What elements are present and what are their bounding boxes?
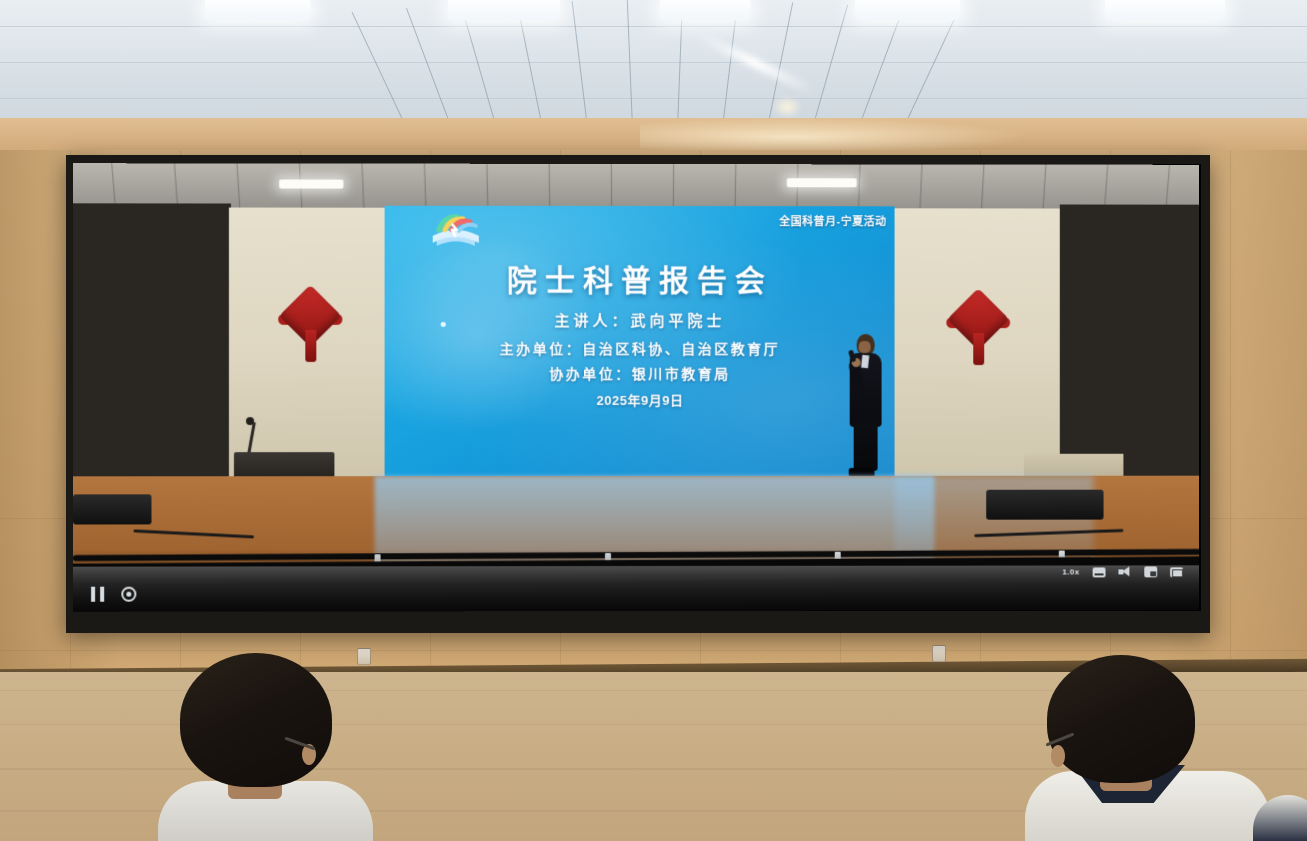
volume-icon[interactable] <box>1118 566 1131 577</box>
red-chinese-knot-left <box>282 294 338 366</box>
ceiling-cross-seam <box>0 98 1307 99</box>
replay-icon[interactable] <box>121 587 136 602</box>
presenter-on-stage <box>845 334 887 479</box>
inner-ceiling-seam <box>486 164 488 212</box>
wall-socket-right <box>932 645 946 662</box>
science-popularization-logo-icon <box>423 210 489 250</box>
audience-member-right <box>1015 656 1307 841</box>
stage-monitor-speaker-left <box>73 494 152 524</box>
stage-front-panel <box>73 565 1199 611</box>
inner-wall-dark-left <box>73 203 231 504</box>
knot-tassel <box>305 330 316 362</box>
inner-ceiling-seam <box>361 164 364 212</box>
presenter-face <box>859 341 871 353</box>
inner-ceiling-light <box>279 180 343 189</box>
wall-panel-seam-horizontal <box>0 650 1307 651</box>
video-surface[interactable]: 全国科普月-宁夏活动 院士科普报告会 主讲人：武向平院士 主办单位：自治区科协、… <box>73 163 1199 612</box>
audience-ear <box>1051 745 1065 767</box>
picture-in-picture-icon[interactable] <box>1144 566 1157 577</box>
light-reflection <box>772 96 802 118</box>
screenshot-root: 全国科普月-宁夏活动 院士科普报告会 主讲人：武向平院士 主办单位：自治区科协、… <box>0 0 1307 841</box>
slide-speaker-line: 主讲人：武向平院士 <box>385 310 895 331</box>
inner-ceiling-seam <box>549 164 551 212</box>
slide-cohost-line: 协办单位：银川市教育局 <box>385 364 895 384</box>
slide-date-line: 2025年9月9日 <box>385 390 895 409</box>
red-chinese-knot-right <box>950 297 1006 369</box>
ceiling-light-panel <box>205 0 310 20</box>
inner-ceiling-seam <box>673 164 674 212</box>
video-content: 全国科普月-宁夏活动 院士科普报告会 主讲人：武向平院士 主办单位：自治区科协、… <box>73 163 1199 612</box>
ceiling-light-panel <box>1105 0 1225 20</box>
playback-controls-left <box>91 587 136 602</box>
inner-ceiling-seam <box>735 164 737 212</box>
pause-icon[interactable] <box>91 587 104 602</box>
playback-speed-label[interactable]: 1.0x <box>1062 567 1079 576</box>
knot-tassel <box>973 333 984 365</box>
slide-title: 院士科普报告会 <box>385 256 895 300</box>
audience-head <box>1047 655 1195 783</box>
presenter-legs <box>854 424 878 471</box>
inner-ceiling-seam <box>236 163 240 211</box>
inner-ceiling-seam <box>1042 165 1046 213</box>
presentation-slide: 全国科普月-宁夏活动 院士科普报告会 主讲人：武向平院士 主办单位：自治区科协、… <box>385 206 895 478</box>
ceiling-light-panel <box>660 0 750 20</box>
inner-ceiling-seam <box>611 164 612 212</box>
fullscreen-icon[interactable] <box>1170 567 1183 577</box>
inner-ceiling-seam <box>858 164 861 212</box>
ceiling-cross-seam <box>0 62 1307 63</box>
captions-icon[interactable] <box>1093 567 1106 577</box>
inner-ceiling-light <box>787 178 857 187</box>
led-wall-screen[interactable]: 全国科普月-宁夏活动 院士科普报告会 主讲人：武向平院士 主办单位：自治区科协、… <box>66 155 1210 633</box>
inner-ceiling-seam <box>796 164 798 212</box>
inner-ceiling-seam <box>424 164 427 212</box>
ceiling-cross-seam <box>0 26 1307 27</box>
playback-controls-right: 1.0x <box>1062 566 1183 577</box>
stage-monitor-speaker-right <box>986 490 1103 520</box>
slide-host-line: 主办单位：自治区科协、自治区教育厅 <box>385 339 895 359</box>
audience-head <box>180 653 332 787</box>
inner-ceiling-seam <box>919 164 922 212</box>
presenter-shirt <box>861 355 869 369</box>
inner-ceiling-seam <box>981 165 985 213</box>
slide-banner-text: 全国科普月-宁夏活动 <box>779 213 886 229</box>
ceiling <box>0 0 1307 128</box>
room: 全国科普月-宁夏活动 院士科普报告会 主讲人：武向平院士 主办单位：自治区科协、… <box>0 0 1307 841</box>
podium-mic-head <box>246 417 254 425</box>
ceiling-light-panel <box>855 0 960 20</box>
ceiling-light-panel <box>448 0 560 20</box>
audience-member-left <box>150 656 380 841</box>
